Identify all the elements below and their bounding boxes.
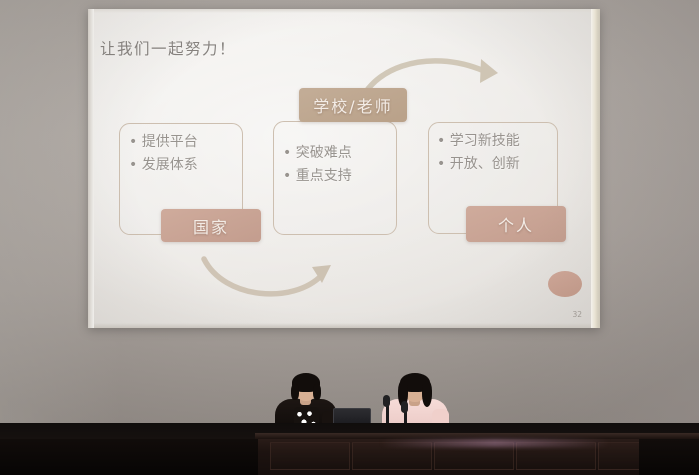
screen-edge-right: [591, 9, 600, 328]
projection-screen: 让我们一起努力！ • 提供平台 • 发展体系 国家: [88, 9, 600, 328]
presenter-left-hair-side-r: [313, 384, 321, 400]
presenter-right-hair-side-r: [422, 381, 432, 407]
screen-edge-top: [88, 9, 600, 13]
desk-panel-1: [270, 442, 350, 470]
screen-edge-bottom: [88, 323, 600, 328]
presentation-photo: 让我们一起努力！ • 提供平台 • 发展体系 国家: [0, 0, 699, 475]
podium: [0, 423, 699, 475]
podium-wing-left: [0, 439, 258, 475]
podium-wing-right: [639, 439, 699, 475]
screen-edge-left: [88, 9, 94, 328]
presenter-left-hair-side-l: [291, 384, 299, 400]
desk-specular-highlight: [380, 439, 610, 447]
microphone-left-head: [383, 395, 390, 407]
screen-vignette: [88, 9, 600, 328]
microphone-right-head: [401, 401, 408, 413]
